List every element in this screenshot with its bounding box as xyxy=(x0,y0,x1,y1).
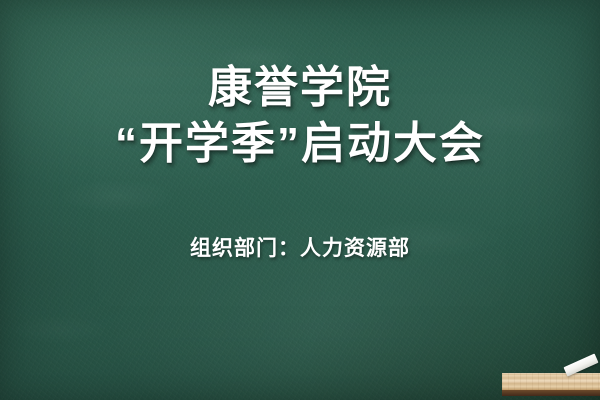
chalk-tray xyxy=(502,373,600,396)
slide-content: 康誉学院 “开学季”启动大会 组织部门：人力资源部 xyxy=(0,0,600,400)
chalk-tray-front-edge xyxy=(502,390,600,396)
presentation-slide: 康誉学院 “开学季”启动大会 组织部门：人力资源部 xyxy=(0,0,600,400)
slide-subtitle: 组织部门：人力资源部 xyxy=(190,234,410,264)
wood-grain-texture xyxy=(502,373,600,390)
title-line-1: 康誉学院 xyxy=(115,60,485,116)
title-line-2: “开学季”启动大会 xyxy=(115,116,485,172)
slide-title: 康誉学院 “开学季”启动大会 xyxy=(115,60,485,172)
chalk-tray-surface xyxy=(502,373,600,390)
